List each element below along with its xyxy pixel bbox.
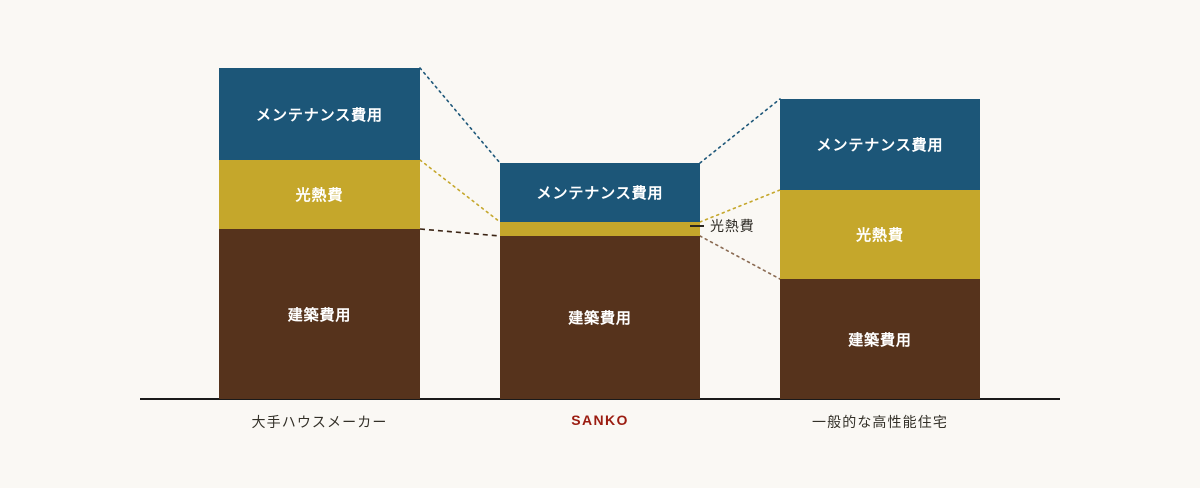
callout-label: 光熱費 [710, 216, 755, 236]
connector-yellow-brown-bar2-bar3 [700, 236, 780, 279]
segment-maintenance-bar1: メンテナンス費用 [219, 68, 420, 160]
segment-label: 光熱費 [856, 224, 904, 245]
category-label-sanko: SANKO [500, 412, 700, 428]
category-label-major-maker: 大手ハウスメーカー [219, 412, 420, 432]
callout-leader-dash [690, 225, 704, 227]
segment-label: 光熱費 [296, 184, 344, 205]
callout-utility-sanko: 光熱費 [690, 216, 755, 236]
segment-maintenance-bar3: メンテナンス費用 [780, 99, 980, 190]
connector-top-bar1-bar2 [420, 68, 500, 163]
segment-construction-bar3: 建築費用 [780, 279, 980, 399]
segment-label: メンテナンス費用 [256, 104, 383, 125]
segment-label: 建築費用 [568, 307, 632, 328]
stacked-bar-chart: メンテナンス費用 光熱費 建築費用 メンテナンス費用 建築費用 メンテナンス費用… [0, 0, 1200, 488]
segment-label: メンテナンス費用 [537, 182, 664, 203]
connector-top-bar2-bar3 [700, 99, 780, 163]
segment-maintenance-bar2: メンテナンス費用 [500, 163, 700, 222]
segment-label: 建築費用 [848, 329, 912, 350]
category-label-high-performance: 一般的な高性能住宅 [780, 412, 980, 432]
segment-construction-bar2: 建築費用 [500, 236, 700, 399]
segment-utility-bar1: 光熱費 [219, 160, 420, 229]
segment-utility-bar3: 光熱費 [780, 190, 980, 279]
segment-construction-bar1: 建築費用 [219, 229, 420, 399]
segment-label: メンテナンス費用 [817, 134, 944, 155]
connector-blue-yellow-bar1-bar2 [420, 160, 500, 222]
segment-label: 建築費用 [288, 304, 352, 325]
connector-yellow-brown-bar1-bar2 [420, 229, 500, 236]
segment-utility-bar2 [500, 222, 700, 236]
